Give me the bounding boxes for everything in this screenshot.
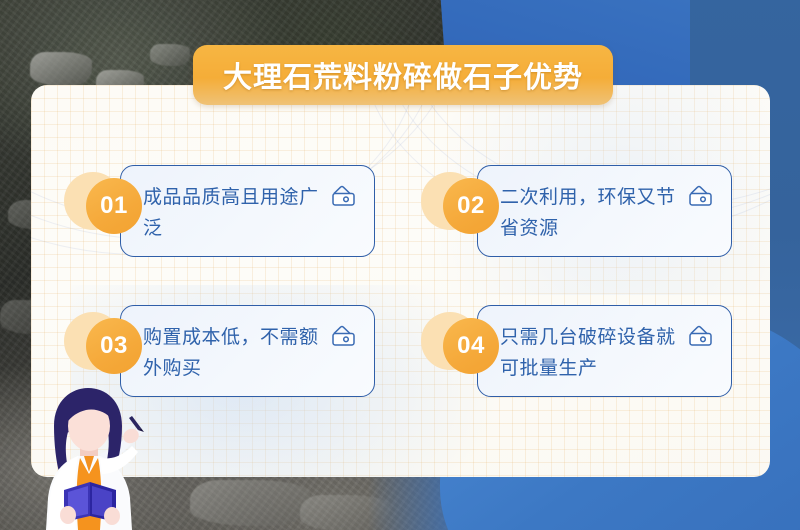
feature-card-04[interactable]: 只需几台破碎设备就可批量生产 xyxy=(477,305,732,397)
title-banner: 大理石荒料粉碎做石子优势 xyxy=(193,45,613,105)
badge-number: 03 xyxy=(100,332,128,360)
badge-main-circle: 01 xyxy=(86,178,142,234)
feature-card-text: 二次利用，环保又节省资源 xyxy=(500,182,685,244)
badge-number: 01 xyxy=(100,192,128,220)
feature-card-text: 成品品质高且用途广泛 xyxy=(143,182,328,244)
badge-number: 04 xyxy=(457,332,485,360)
feature-card-text: 只需几台破碎设备就可批量生产 xyxy=(500,322,685,384)
presenter-illustration xyxy=(28,382,158,530)
wallet-icon xyxy=(330,324,358,348)
badge-01: 01 xyxy=(78,178,142,242)
infographic-stage: 大理石荒料粉碎做石子优势 成品品质高且用途广泛 01 二次利用，环保又节省资源 xyxy=(0,0,800,530)
feature-card-03[interactable]: 购置成本低，不需额外购买 xyxy=(120,305,375,397)
rock-shape xyxy=(30,52,92,86)
badge-number: 02 xyxy=(457,192,485,220)
badge-main-circle: 04 xyxy=(443,318,499,374)
badge-main-circle: 02 xyxy=(443,178,499,234)
badge-02: 02 xyxy=(435,178,499,242)
wallet-icon xyxy=(330,184,358,208)
feature-card-02[interactable]: 二次利用，环保又节省资源 xyxy=(477,165,732,257)
feature-card-text: 购置成本低，不需额外购买 xyxy=(143,322,328,384)
badge-03: 03 xyxy=(78,318,142,382)
page-title: 大理石荒料粉碎做石子优势 xyxy=(223,54,583,96)
wallet-icon xyxy=(687,184,715,208)
badge-main-circle: 03 xyxy=(86,318,142,374)
badge-04: 04 xyxy=(435,318,499,382)
rock-shape xyxy=(150,44,190,66)
wallet-icon xyxy=(687,324,715,348)
feature-card-01[interactable]: 成品品质高且用途广泛 xyxy=(120,165,375,257)
